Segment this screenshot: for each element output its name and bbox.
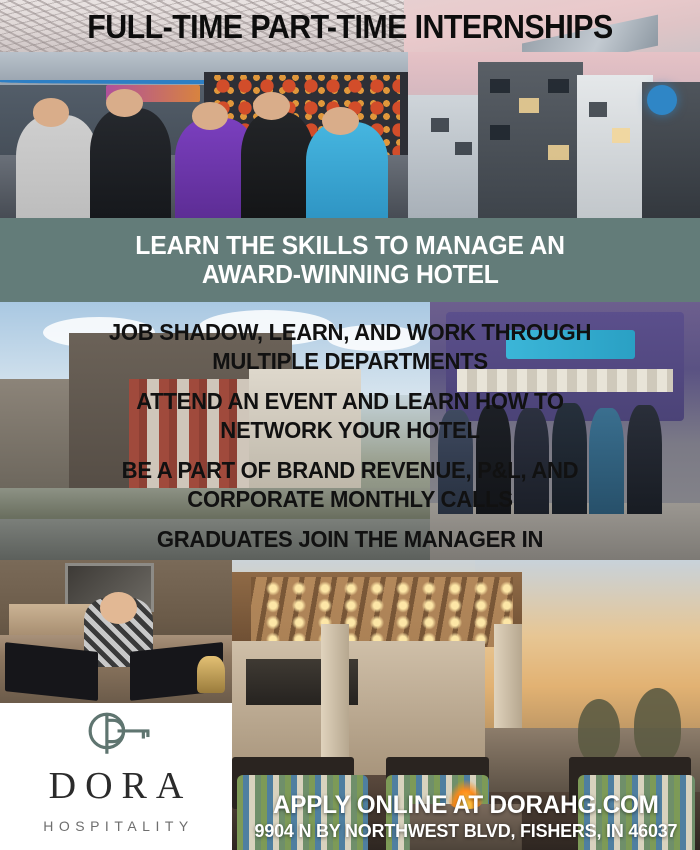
hotel-window (431, 118, 449, 131)
highlight-1-line-2: MULTIPLE DEPARTMENTS (14, 347, 686, 376)
hotel-window (589, 102, 607, 117)
photo-tru-hotel-exterior (408, 52, 700, 218)
highlight-2-line-1: ATTEND AN EVENT AND LEARN HOW TO (14, 387, 686, 416)
dora-d-key-monogram-icon (78, 709, 154, 759)
hotel-window-lit (519, 98, 539, 113)
staff-face (106, 89, 143, 117)
desk-monitor (5, 642, 98, 701)
hotel-window (490, 125, 510, 140)
tree (578, 699, 620, 763)
hotel-window (490, 79, 510, 94)
tru-brand-logo-icon (647, 85, 677, 115)
tree (634, 688, 681, 763)
staff-face (322, 107, 359, 135)
hotel-window-lit (612, 128, 630, 143)
address-text: 9904 N BY NORTHWEST BLVD, FISHERS, IN 46… (255, 821, 678, 840)
photo-front-desk-employee (0, 560, 232, 705)
highlight-3-line-1: BE A PART OF BRAND REVENUE, P&L, AND (14, 456, 686, 485)
page-title: FULL-TIME PART-TIME INTERNSHIPS (28, 0, 672, 52)
logo-tagline: HOSPITALITY (38, 818, 193, 834)
photo-hotel-staff-group (0, 52, 408, 218)
highlight-2-line-2: NETWORK YOUR HOTEL (14, 416, 686, 445)
call-to-action: APPLY ONLINE AT DORAHG.COM 9904 N BY NOR… (232, 782, 700, 850)
employee-face (100, 592, 137, 624)
staff-member (16, 115, 98, 218)
highlight-3-line-2: CORPORATE MONTHLY CALLS (14, 485, 686, 514)
hotel-window-lit (548, 145, 568, 160)
apply-online-text[interactable]: APPLY ONLINE AT DORAHG.COM (273, 792, 659, 818)
hotel-window (548, 79, 568, 94)
desk-lamp (197, 656, 225, 694)
internship-flyer: FULL-TIME PART-TIME INTERNSHIPS (0, 0, 700, 850)
tagline-banner: LEARN THE SKILLS TO MANAGE AN AWARD-WINN… (0, 218, 700, 302)
program-highlights-list: JOB SHADOW, LEARN, AND WORK THROUGH MULT… (0, 318, 700, 583)
brand-logo-panel: DORA HOSPITALITY (0, 703, 232, 850)
staff-member (306, 122, 388, 218)
highlight-1-line-1: JOB SHADOW, LEARN, AND WORK THROUGH (14, 318, 686, 347)
highlight-4-line-1: GRADUATES JOIN THE MANAGER IN (14, 525, 686, 554)
tagline-line-2: AWARD-WINNING HOTEL (202, 260, 499, 289)
staff-member (241, 112, 314, 218)
logo-wordmark: DORA (40, 767, 193, 805)
staff-face (253, 92, 290, 120)
staff-member (90, 108, 172, 218)
tagline-line-1: LEARN THE SKILLS TO MANAGE AN (135, 231, 565, 260)
hotel-window (455, 142, 473, 155)
staff-face (33, 98, 70, 126)
string-lights (260, 580, 513, 644)
